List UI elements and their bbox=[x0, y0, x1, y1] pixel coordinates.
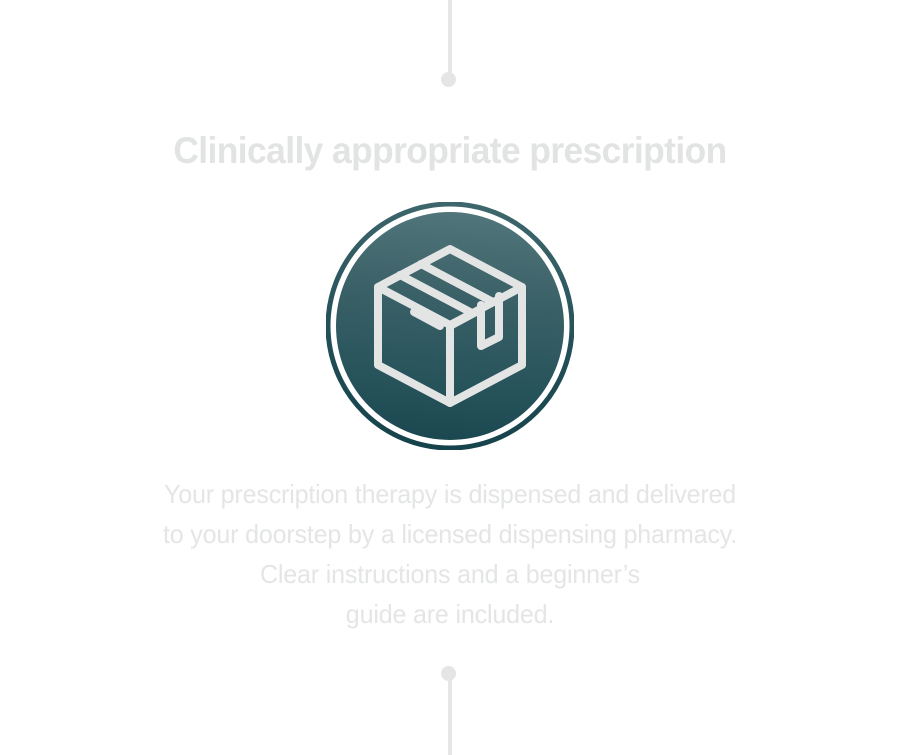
step-description-line-3: Clear instructions and a beginner’s bbox=[74, 554, 827, 594]
package-box-icon bbox=[326, 202, 574, 450]
timeline-step-card: Clinically appropriate prescription bbox=[0, 0, 900, 751]
step-description-line-1: Your prescription therapy is dispensed a… bbox=[74, 474, 827, 514]
step-description-line-2: to your doorstep by a licensed dispensin… bbox=[74, 514, 827, 554]
page-title: Clinically appropriate prescription bbox=[20, 128, 880, 174]
timeline-connector-top bbox=[448, 0, 452, 82]
timeline-dot-top bbox=[441, 72, 456, 87]
timeline-connector-bottom bbox=[448, 673, 452, 755]
step-description: Your prescription therapy is dispensed a… bbox=[74, 474, 827, 634]
step-description-line-4: guide are included. bbox=[74, 594, 827, 634]
